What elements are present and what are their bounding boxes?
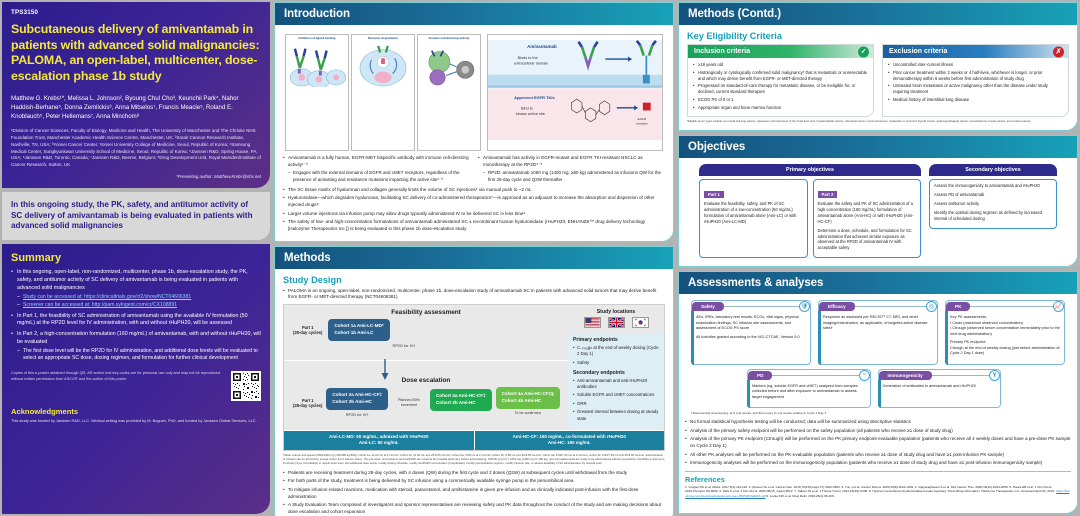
cohort2-wrap: Cohort 2a Ami-HC-CF‡ Cohort 2b Ami-HC RP… [326, 388, 388, 416]
primary-objectives-boxes: Part 1 Evaluate the feasibility, safety,… [699, 179, 921, 258]
methods-closing-bullets: Patients are receiving treatment during … [283, 470, 665, 516]
introduction-figure: Inhibition of ligand binding [283, 31, 665, 155]
assessment-card-efficacy: Efficacy ◎ Response as assessed per RECI… [818, 300, 938, 365]
list-item: Hyaluronidase—which degrades hyaluronan,… [283, 195, 665, 209]
cohort-box-4: Cohort 4a Ami-HC-CF‡§ Cohort 4b Ami-HC [496, 387, 560, 408]
objective-text: Assess PD of amivantamab [934, 192, 1052, 198]
list-item: The SC tissue matrix of hyaluronan and c… [283, 187, 665, 194]
assessment-card-immunogenicity: Immunogenicity 𝛄 Generation of antibodie… [878, 369, 1002, 409]
formulation-label: Ami-HC-CF: 160 mg/mL, co-formulated with… [477, 434, 663, 441]
methods-contd-panel: Methods (Contd.) Key Eligibility Criteri… [678, 2, 1078, 131]
diagram-label: extracellular domain [514, 61, 548, 65]
mechanism-diagram: Amivantamab Binds to the extracellular d… [488, 35, 662, 145]
cohort-label: Cohort 3b Ami-HC [436, 400, 486, 407]
card-header: PK 📈 [946, 301, 1064, 312]
connector-line [970, 306, 1053, 307]
summary-list: In this ongoing, open-label, non-randomi… [11, 269, 261, 365]
assessment-text: AEs, IRRs, laboratory test results, ECGs… [696, 315, 806, 332]
objectives-heading: Objectives [679, 136, 1077, 158]
part2-tag: Part 2 [818, 191, 838, 198]
qr-code-icon [232, 372, 260, 400]
cohort-label: Cohort 3a Ami-HC-CF‡ [436, 393, 486, 400]
moa-pane-degradation: Receptor degradation [351, 34, 415, 151]
droplet-icon: ♃ [859, 370, 870, 381]
poster-root: TPS3150 Subcutaneous delivery of amivant… [0, 0, 1080, 516]
list-item: ORR [573, 401, 659, 407]
list-item: Immunogenicity analyses will be performe… [685, 460, 1071, 467]
summary-sublist: The first dose level will be the RP2D fo… [17, 348, 261, 363]
assessment-text: Markers (eg, soluble EGFR and cMET) anal… [752, 384, 866, 401]
assessments-body: Safety 🛡 AEs, IRRs, laboratory test resu… [679, 294, 1077, 513]
rp2d-label-1: RP2D for IV† [275, 343, 563, 348]
objective-box-part2: Part 2 Evaluate the safety and PK of SC … [813, 179, 922, 258]
summary-text: In Part 2, a high-concentration formulat… [17, 331, 261, 345]
diagram-label: Bind to [521, 107, 533, 111]
methods-panel: Methods Study Design PALOMA is an ongoin… [274, 246, 674, 516]
objective-text: Determine a dose, schedule, and formulat… [818, 228, 917, 252]
diagram-label: EGFR [638, 117, 647, 121]
assessments-heading: Assessments & analyses [679, 272, 1077, 294]
formulation-hc: Ami-HC-CF: 160 mg/mL, co-formulated with… [475, 431, 665, 451]
introduction-panel: Introduction Inhibition of ligand bindin… [274, 2, 674, 242]
list-item: Engages with the external domains of EGF… [288, 170, 470, 184]
tbc-label: To be confirmed [496, 411, 560, 415]
objective-text: Evaluate the feasibility, safety, and PK… [704, 201, 803, 225]
list-item: Appropriate organ and bone marrow functi… [693, 105, 868, 111]
list-item: Analysis of the primary safety endpoint … [685, 428, 1071, 435]
secondary-endpoints-list: Anti-amivantamab and anti-rHuPH20 antibo… [573, 378, 659, 422]
screener-link[interactable]: Screener can be accessed at: http://pam.… [23, 302, 177, 308]
cross-icon: ✗ [1053, 46, 1064, 57]
cohort-label: Cohort 4b Ami-HC [502, 398, 554, 405]
sub-bullet-list: RP2D: amivantamab 1050 mg (1400 mg, ≥80 … [483, 170, 665, 184]
inclusion-header: Inclusion criteria ✓ [688, 45, 873, 58]
list-item: In Part 2, a high-concentration formulat… [11, 331, 261, 363]
assessment-text: All toxicities graded according to the N… [696, 335, 806, 341]
connector-line [855, 306, 926, 307]
intro-wide-bullets: The SC tissue matrix of hyaluronan and c… [283, 187, 665, 233]
immunogenicity-tag: Immunogenicity [879, 371, 932, 380]
check-icon: ✓ [858, 46, 869, 57]
study-locations-block: Study locations [568, 305, 664, 333]
list-item: PALOMA is an ongoing, open-label, non-ra… [283, 288, 665, 302]
assessment-card-pd: PD ♃ Markers (eg, soluble EGFR and cMET)… [747, 369, 871, 409]
card-header: Immunogenicity 𝛄 [879, 370, 1001, 381]
assessment-row-2: PD ♃ Markers (eg, soluble EGFR and cMET)… [685, 365, 1071, 409]
study-design-lead: PALOMA is an ongoing, open-label, non-ra… [283, 288, 665, 302]
list-item: Untreated brain metastasis or active mal… [888, 83, 1063, 95]
summary-sublist: Study can be accessed at: https://clinic… [17, 294, 261, 310]
title-card: TPS3150 Subcutaneous delivery of amivant… [2, 2, 270, 188]
shield-icon: 🛡 [799, 301, 810, 312]
diagram-label: mutation [636, 121, 648, 125]
eligibility-heading: Key Eligibility Criteria [687, 31, 1069, 41]
cohort-label: Cohort 4a Ami-HC-CF‡§ [502, 391, 554, 398]
list-item: Histologically or cytologically confirme… [693, 70, 868, 82]
list-item: Larger volume injections via infusion pu… [283, 211, 665, 218]
card-header: Safety 🛡 [692, 301, 810, 312]
bullet-text: Amivantamab has activity in EGFR-mutant … [483, 155, 643, 167]
diagram-parts: Feasibility assessment Part 1 (28-day cy… [284, 305, 568, 429]
references-tail: 9. Locke KW et al. Drug Deliv. 2019;26(1… [766, 494, 834, 498]
list-item: Amivantamab is a fully human, EGFR-MET b… [283, 155, 470, 183]
flag-united-states-icon [584, 317, 601, 328]
part1-tag: Part 1 [704, 191, 724, 198]
ligand-binding-icon [288, 41, 346, 87]
dose-escalation-block: Dose escalation Part 1 (28-day cycles) C… [284, 361, 568, 429]
assessment-text: Response as assessed per RECIST¹ CT, MRI… [823, 315, 933, 332]
list-item: The safety of low- and high-concentratio… [283, 219, 665, 233]
diagram-label: Approved EGFR TKIs [514, 95, 555, 100]
list-item: Analysis of the primary PK endpoint (Ctr… [685, 436, 1071, 450]
list-item: Study can be accessed at: https://clinic… [17, 294, 261, 301]
connector-line [772, 375, 858, 376]
objective-box-part1: Part 1 Evaluate the feasibility, safety,… [699, 179, 808, 258]
list-item: Medical history of interstitial lung dis… [888, 97, 1063, 103]
cohort-box-1: Cohort 1a Ami-LC-MD* Cohort 1b Ami-LC [328, 319, 389, 340]
assessments-panel: Assessments & analyses Safety 🛡 AEs, IRR… [678, 271, 1078, 514]
diagram-footnotes: *Mean volume and speed (1050/1400 mg [<8… [283, 454, 665, 465]
list-item: Prior cancer treatment within 2 weeks or… [888, 70, 1063, 82]
exclusion-body: Uncontrolled inter-current illness Prior… [883, 58, 1068, 109]
card-header: PD ♃ [748, 370, 870, 381]
abstract-number: TPS3150 [11, 9, 261, 16]
list-item: Amivantamab has activity in EGFR-mutant … [478, 155, 665, 183]
list-item: Progressed on standard-of-care therapy f… [693, 83, 868, 95]
cohort-box-2: Cohort 2a Ami-HC-CF‡ Cohort 2b Ami-HC [326, 388, 388, 409]
methods-body: Study Design PALOMA is an ongoing, open-… [275, 269, 673, 516]
amivantamab-mechanism-figure: Amivantamab Binds to the extracellular d… [487, 34, 663, 151]
introduction-heading: Introduction [275, 3, 673, 25]
author-list: Matthew G. Krebs¹*, Melissa L. Johnson²,… [11, 94, 261, 122]
flow-arrow-icon [380, 359, 390, 381]
list-item: Patients are receiving treatment during … [283, 470, 665, 477]
intro-bullets-left: Amivantamab is a fully human, EGFR-MET b… [283, 155, 470, 185]
moa-figure-group: Inhibition of ligand binding [285, 34, 481, 151]
methods-contd-heading: Methods (Contd.) [679, 3, 1077, 25]
primary-objectives-band: Primary objectives [699, 164, 921, 176]
list-item: To mitigate infusion-related reactions, … [283, 487, 665, 501]
list-item: RP2D: amivantamab 1050 mg (1400 mg, ≥80 … [483, 170, 665, 184]
references-body: 1. Grugan KD et al. MAbs. 2017;9(1):114-… [685, 485, 1055, 493]
assessments-footnote: †Documented at screening, at 6 (+1) week… [685, 408, 1071, 415]
list-item: All other PK analyses will be performed … [685, 452, 1071, 459]
list-item: No formal statistical hypothesis testing… [685, 419, 1071, 426]
secondary-objectives-band: Secondary objectives [929, 164, 1057, 176]
part2-label-group: Part 1 (28-day cycles) [293, 398, 322, 409]
cohort-label: Cohort 2b Ami-HC [332, 399, 382, 406]
list-item: Soluble EGFR and cMET concentrations [573, 392, 659, 398]
methods-contd-body: Key Eligibility Criteria Inclusion crite… [679, 25, 1077, 130]
bullet-text: Amivantamab is a fully human, EGFR-MET b… [288, 155, 469, 167]
moa-pane-immune: Immune cell-directing activity [417, 34, 481, 151]
formulation-label: Ami-LC: 50 mg/mL [286, 440, 472, 447]
moa-caption: Inhibition of ligand binding [298, 37, 335, 40]
diagram-label: Amivantamab [527, 44, 557, 49]
moa-caption: Receptor degradation [368, 37, 398, 40]
qr-note: Copies of this e-poster obtained through… [11, 371, 225, 382]
key-highlight: In this ongoing study, the PK, safety, a… [2, 192, 270, 241]
secondary-objectives-boxes: Assess the immunogenicity to amivantamab… [929, 179, 1057, 229]
rp2d-label-2: RP2D for IV† [326, 412, 388, 417]
inclusion-title: Inclusion criteria [694, 48, 750, 55]
bullet-list: Amivantamab is a fully human, EGFR-MET b… [283, 155, 470, 183]
summary-card: Summary In this ongoing, open-label, non… [2, 244, 270, 514]
formulation-label: Ami-HC: 160 mg/mL [477, 440, 663, 447]
receptor-degradation-icon [354, 41, 412, 87]
assessment-text: Generation of antibodies to amivantamab … [883, 384, 997, 390]
part1-label-group: Part 1 (28-day cycles) [293, 325, 322, 336]
assessment-text: Ctrough at the end of weekly dosing (jus… [950, 346, 1060, 357]
inclusion-body: ≥18 years old Histologically or cytologi… [688, 58, 873, 116]
exclusion-title: Exclusion criteria [889, 48, 947, 55]
assessment-card-pk: PK 📈 Key PK assessments: • Cmax (maximum… [945, 300, 1065, 365]
list-item: ECOG PS of 0 or 1 [693, 97, 868, 103]
immune-directing-icon [420, 41, 478, 87]
increment-label: Planned 50% increment [392, 398, 426, 408]
assessment-card-safety: Safety 🛡 AEs, IRRs, laboratory test resu… [691, 300, 811, 365]
card-header: Efficacy ◎ [819, 301, 937, 312]
presenting-author: *Presenting author: Matthew.Krebs@nhs.ne… [11, 174, 261, 179]
study-design-heading: Study Design [283, 275, 665, 285]
connector-line [932, 375, 989, 376]
chart-icon: 📈 [1053, 301, 1064, 312]
objectives-panel: Objectives Primary objectives Part 1 Eva… [678, 135, 1078, 267]
secondary-endpoints-heading: Secondary endpoints [573, 370, 659, 376]
list-item: Uncontrolled inter-current illness [888, 62, 1063, 68]
cohort-box-3: Cohort 3a Ami-HC-CF‡ Cohort 3b Ami-HC [430, 389, 492, 410]
formulation-lc: Ami-LC-MD: 50 mg/mL, admixed with rHuPH2… [284, 431, 475, 451]
diagram-side: Study locations [568, 305, 664, 429]
list-item: In this ongoing, open-label, non-randomi… [11, 269, 261, 309]
bullet-list: Amivantamab has activity in EGFR-mutant … [478, 155, 665, 183]
cohort4-wrap: Cohort 4a Ami-HC-CF‡§ Cohort 4b Ami-HC T… [496, 387, 560, 414]
list-item: ≥18 years old [693, 62, 868, 68]
study-design-diagram: Feasibility assessment Part 1 (28-day cy… [283, 304, 665, 451]
references-heading: References [685, 475, 1071, 484]
methods-heading: Methods [275, 247, 673, 269]
middle-column: Introduction Inhibition of ligand bindin… [274, 2, 674, 514]
objective-text: Assess antitumor activity [934, 201, 1052, 207]
diagram-label: Binds to the [518, 56, 538, 60]
trial-link[interactable]: Study can be accessed at: https://clinic… [23, 294, 191, 300]
list-item: Screener can be accessed at: http://pam.… [17, 302, 261, 309]
list-item: C₋ₜᵣₒᵤgₕ at the end of weekly dosing (Cy… [573, 345, 659, 357]
cohort-label: Cohort 1b Ami-LC [334, 330, 383, 337]
exclusion-criteria-card: Exclusion criteria ✗ Uncontrolled inter-… [882, 44, 1069, 117]
list-item: Greatest interval between dosing at stea… [573, 409, 659, 421]
flag-united-kingdom-icon [608, 317, 625, 328]
summary-text: In this ongoing, open-label, non-randomi… [17, 269, 248, 290]
objective-text: Evaluate the safety and PK of SC adminis… [818, 201, 917, 225]
antibody-icon: 𝛄 [989, 370, 1000, 381]
list-item: A Study Evaluation Team composed of inve… [283, 502, 665, 516]
objectives-body: Primary objectives Part 1 Evaluate the f… [679, 158, 1077, 266]
qr-code[interactable] [231, 371, 261, 401]
list-item: Anti-amivantamab and anti-rHuPH20 antibo… [573, 378, 659, 390]
objectives-wrapper: Primary objectives Part 1 Evaluate the f… [683, 160, 1073, 260]
cohort-label: Cohort 1a Ami-LC-MD* [334, 323, 383, 330]
endpoints-block: Primary endpoints C₋ₜᵣₒᵤgₕ at the end of… [568, 333, 664, 429]
efficacy-tag: Efficacy [819, 302, 855, 311]
introduction-body: Inhibition of ligand binding [275, 25, 673, 241]
moa-caption: Immune cell-directing activity [429, 37, 470, 40]
primary-objectives-column: Primary objectives Part 1 Evaluate the f… [699, 164, 921, 258]
acknowledgments-heading: Acknowledgments [11, 407, 261, 416]
list-item: In Part 1, the feasibility of SC adminis… [11, 313, 261, 328]
eligibility-footnote: *Eligible tumor types include non-small … [687, 120, 1069, 124]
divider [685, 471, 1071, 472]
objective-text: Assess the immunogenicity to amivantamab… [934, 183, 1052, 189]
cohort-label: Cohort 2a Ami-HC-CF‡ [332, 392, 382, 399]
primary-endpoints-heading: Primary endpoints [573, 337, 659, 343]
analysis-bullets: No formal statistical hypothesis testing… [685, 419, 1071, 467]
assessment-text: • Ctrough (observed serum concentration … [950, 326, 1060, 337]
acknowledgments-text: This study was funded by Janssen R&D, LL… [11, 418, 261, 424]
pd-tag: PD [748, 371, 772, 380]
formulation-bar: Ami-LC-MD: 50 mg/mL, admixed with rHuPH2… [284, 430, 664, 451]
introduction-bullet-columns: Amivantamab is a fully human, EGFR-MET b… [283, 155, 665, 185]
right-column: Methods (Contd.) Key Eligibility Criteri… [678, 2, 1078, 514]
references-text: 1. Grugan KD et al. MAbs. 2017;9(1):114-… [685, 485, 1071, 498]
exclusion-list: Uncontrolled inter-current illness Prior… [888, 62, 1063, 103]
left-column: TPS3150 Subcutaneous delivery of amivant… [2, 2, 270, 514]
flags-row [572, 317, 660, 328]
summary-heading: Summary [11, 252, 261, 264]
feasibility-assessment-block: Feasibility assessment Part 1 (28-day cy… [284, 305, 568, 361]
part1-sub: (28-day cycles) [293, 330, 322, 335]
qr-row: Copies of this e-poster obtained through… [11, 371, 261, 401]
primary-endpoints-list: C₋ₜᵣₒᵤgₕ at the end of weekly dosing (Cy… [573, 345, 659, 366]
inclusion-list: ≥18 years old Histologically or cytologi… [693, 62, 868, 111]
objective-box-secondary: Assess the immunogenicity to amivantamab… [929, 179, 1057, 229]
affiliations: ¹Division of Cancer Sciences, Faculty of… [11, 128, 261, 169]
objective-text: Identify the optimal dosing regimen as d… [934, 210, 1052, 222]
diagram-label: kinase active site [516, 112, 545, 116]
criteria-wrapper: Inclusion criteria ✓ ≥18 years old Histo… [687, 44, 1069, 117]
inclusion-criteria-card: Inclusion criteria ✓ ≥18 years old Histo… [687, 44, 874, 117]
list-item: For both parts of the study, treatment i… [283, 478, 665, 485]
diagram-upper: Feasibility assessment Part 1 (28-day cy… [284, 305, 664, 429]
assessment-row-1: Safety 🛡 AEs, IRRs, laboratory test resu… [685, 296, 1071, 365]
safety-tag: Safety [692, 302, 724, 311]
sub-bullet-list: Engages with the external domains of EGF… [288, 170, 470, 184]
flag-south-korea-icon [632, 317, 649, 328]
locations-heading: Study locations [572, 309, 660, 315]
part2-sub: (28-day cycles) [293, 403, 322, 408]
intro-bullets-right: Amivantamab has activity in EGFR-mutant … [478, 155, 665, 185]
page-title: Subcutaneous delivery of amivantamab in … [11, 22, 261, 85]
list-item: Safety [573, 360, 659, 366]
connector-line [724, 306, 799, 307]
part2-title: Dose escalation [289, 377, 563, 384]
formulation-label: Ami-LC-MD: 50 mg/mL, admixed with rHuPH2… [286, 434, 472, 441]
part1-title: Feasibility assessment [289, 309, 563, 316]
list-item: The first dose level will be the RP2D fo… [17, 348, 261, 363]
target-icon: ◎ [926, 301, 937, 312]
cohort3-wrap: Cohort 3a Ami-HC-CF‡ Cohort 3b Ami-HC [430, 389, 492, 410]
secondary-objectives-column: Secondary objectives Assess the immunoge… [929, 164, 1057, 258]
exclusion-header: Exclusion criteria ✗ [883, 45, 1068, 58]
pk-tag: PK [946, 302, 970, 311]
moa-pane-ligand: Inhibition of ligand binding [285, 34, 349, 151]
